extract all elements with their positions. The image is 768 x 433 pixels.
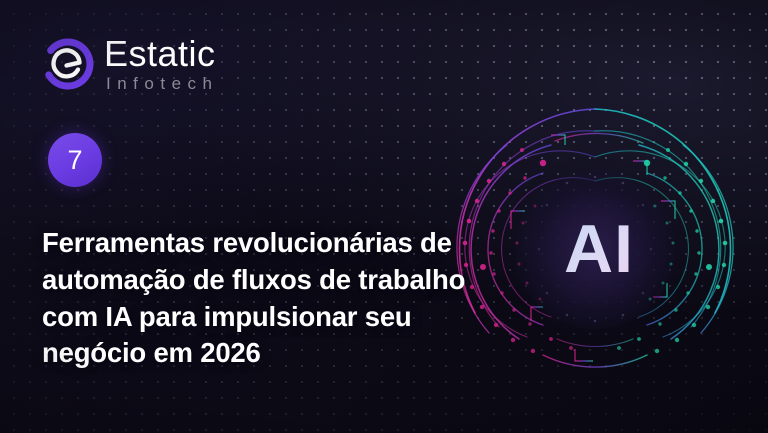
- brand-logo[interactable]: Estatic Infotech: [42, 36, 219, 92]
- ai-center-label: AI: [447, 101, 747, 397]
- brand-subtitle: Infotech: [106, 75, 219, 92]
- ai-circular-tech-graphic: AI: [447, 101, 743, 397]
- number-badge-value: 7: [67, 147, 82, 174]
- number-badge: 7: [48, 133, 102, 187]
- promo-banner: AI Estatic Infotech 7 Ferramentas revolu…: [0, 0, 768, 433]
- brand-name: Estatic: [104, 36, 219, 72]
- headline-title: Ferramentas revolucionárias de automação…: [42, 225, 487, 371]
- brand-wordmark: Estatic Infotech: [104, 36, 219, 92]
- estatic-e-ring-logo-icon: [42, 38, 94, 90]
